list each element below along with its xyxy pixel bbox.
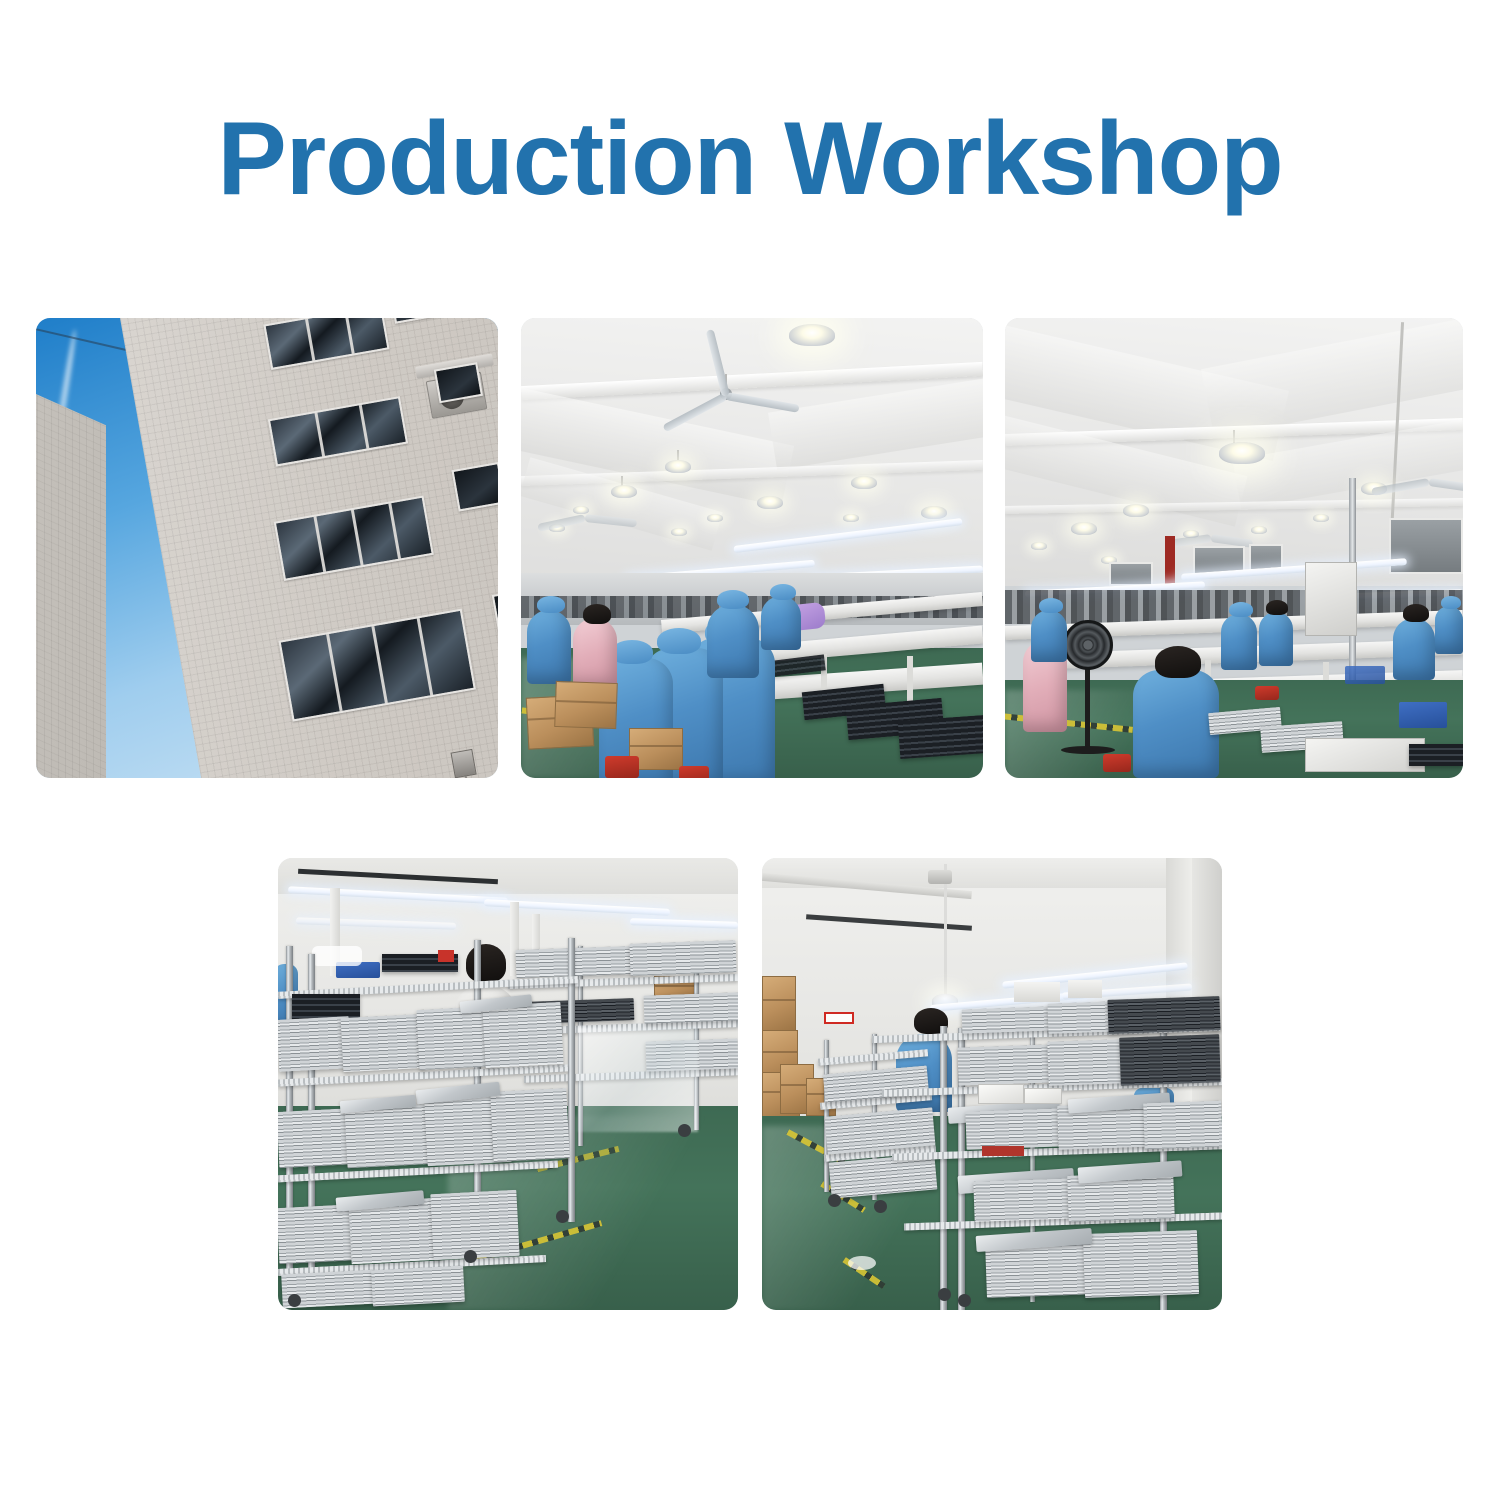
panel-stack [1409, 744, 1463, 766]
carton-box [762, 976, 796, 1032]
highbay-light [757, 496, 783, 509]
highbay-light [1219, 442, 1265, 464]
chassis-stack [957, 1044, 1054, 1085]
chassis-stack [490, 1088, 570, 1162]
highbay-light [611, 485, 637, 498]
white-tray [978, 1084, 1024, 1104]
pedestal-fan-head [1063, 620, 1113, 670]
chassis-stack [344, 1104, 433, 1168]
chassis-stack [1107, 996, 1220, 1034]
photo-assembly-line[interactable] [521, 318, 983, 778]
chassis-stack [516, 946, 635, 978]
highbay-light [1031, 542, 1047, 550]
warning-sign [824, 1012, 854, 1024]
highbay-light [1071, 522, 1097, 535]
chassis-stack [1143, 1101, 1222, 1150]
white-tray [1024, 1088, 1062, 1104]
highbay-light [921, 506, 947, 519]
highbay-light [573, 506, 589, 514]
red-item [438, 950, 454, 962]
chassis-stack [341, 1014, 426, 1072]
chassis-stack [371, 1266, 465, 1307]
ceiling-mount [928, 870, 952, 884]
highbay-light [1313, 514, 1329, 522]
page-title: Production Workshop [0, 104, 1500, 214]
rack-caster [288, 1294, 301, 1307]
photo-storage-racks-right[interactable] [762, 858, 1222, 1310]
blue-parts-bin [1399, 702, 1447, 728]
chassis-stack [1119, 1034, 1221, 1085]
highbay-light [1123, 504, 1149, 517]
chassis-stack [629, 940, 736, 976]
work-stool [679, 766, 709, 778]
blue-parts-bin [1345, 666, 1385, 684]
carton-box [554, 681, 618, 729]
rack-caster [556, 1210, 569, 1223]
photo-storage-racks-left[interactable] [278, 858, 738, 1310]
rack-post [940, 1026, 947, 1310]
stretch-wrap [578, 1028, 698, 1132]
chassis-stack [1083, 1230, 1199, 1298]
monitor-panel [1305, 562, 1357, 636]
chassis-stack [965, 1108, 1066, 1149]
red-item [982, 1146, 1024, 1156]
rack-caster [678, 1124, 691, 1137]
highbay-light [1251, 526, 1267, 534]
highbay-light [671, 528, 687, 536]
wall-mounted-lamp [450, 749, 476, 778]
chassis-stack [482, 1002, 563, 1068]
chassis-stack [644, 992, 738, 1023]
work-stool [605, 756, 639, 778]
wall-pipe [1165, 536, 1175, 584]
rack-caster [958, 1294, 971, 1307]
rack-caster [938, 1288, 951, 1301]
panel-stack [898, 715, 983, 759]
rack-caster [828, 1194, 841, 1207]
highbay-light [707, 514, 723, 522]
floor-debris [848, 1256, 876, 1270]
highbay-light [843, 514, 859, 522]
wall-display-panel [1389, 518, 1463, 574]
highbay-light [789, 324, 835, 346]
rack-caster [874, 1200, 887, 1213]
chassis-stack [430, 1190, 519, 1260]
rack-caster [464, 1250, 477, 1263]
chassis-stack [973, 1178, 1078, 1222]
light-fixture-bracket [1068, 980, 1102, 998]
chassis-stack [962, 1006, 1055, 1033]
wall-display-panel [1109, 562, 1153, 586]
work-stool [1255, 686, 1279, 700]
light-fixture-bracket [1014, 982, 1060, 1002]
plastic-bag [312, 946, 362, 966]
work-stool [1103, 754, 1131, 772]
white-tray [1305, 738, 1425, 772]
photo-workshop-wide-view[interactable] [1005, 318, 1463, 778]
pedestal-fan-base [1061, 746, 1115, 754]
photo-factory-building-exterior[interactable] [36, 318, 498, 778]
highbay-light [851, 476, 877, 489]
highbay-light [665, 460, 691, 473]
